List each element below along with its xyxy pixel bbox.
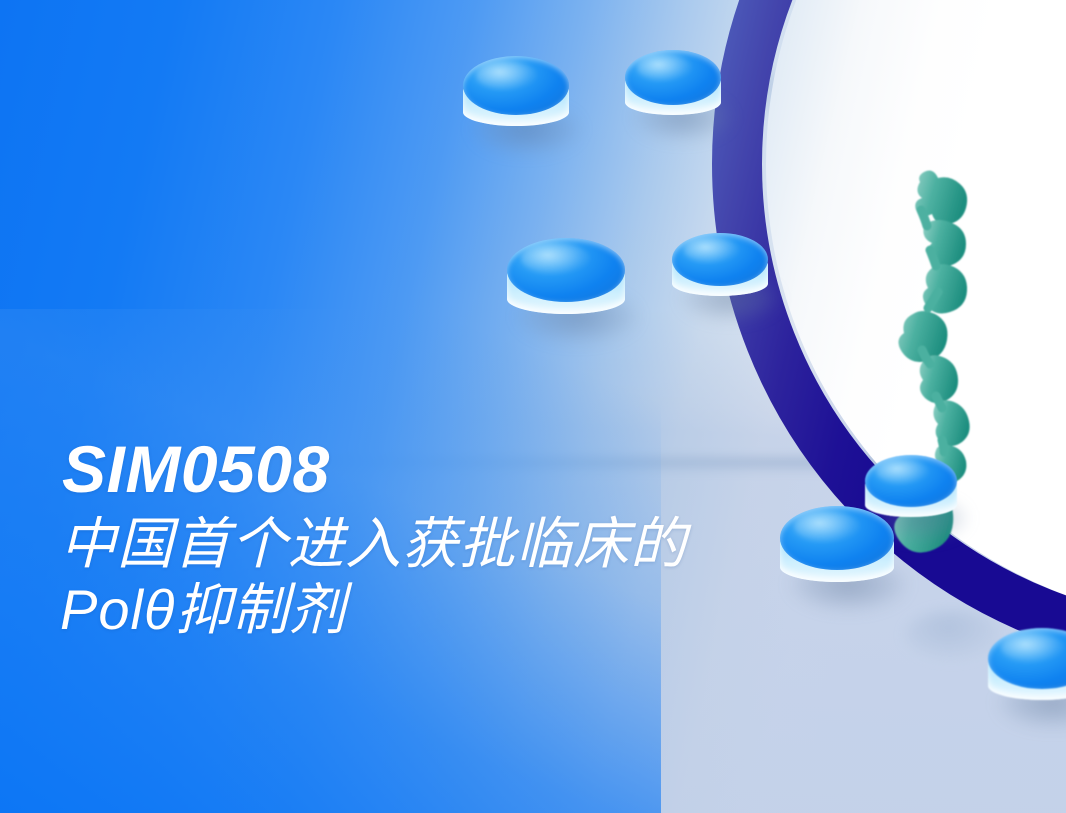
page-title: SIM0508 bbox=[62, 436, 687, 502]
tablet-3 bbox=[507, 238, 625, 324]
tablet-7 bbox=[988, 628, 1066, 710]
tablet-6 bbox=[780, 506, 894, 592]
tablet-highlight bbox=[521, 243, 589, 274]
tablet-highlight bbox=[476, 61, 537, 90]
tablet-highlight bbox=[637, 54, 693, 81]
subtitle-line-2: Polθ抑制剂 bbox=[60, 582, 687, 638]
tablet-highlight bbox=[794, 511, 860, 542]
promo-banner: SIM0508 中国首个进入获批临床的 Polθ抑制剂 bbox=[0, 0, 1066, 813]
tablet-highlight bbox=[1001, 633, 1064, 663]
tablet-2 bbox=[625, 50, 721, 124]
tablet-1 bbox=[463, 56, 569, 136]
subtitle-line-1: 中国首个进入获批临床的 bbox=[60, 516, 687, 572]
headline-block: SIM0508 中国首个进入获批临床的 Polθ抑制剂 bbox=[60, 436, 687, 638]
tablet-4 bbox=[672, 233, 768, 305]
